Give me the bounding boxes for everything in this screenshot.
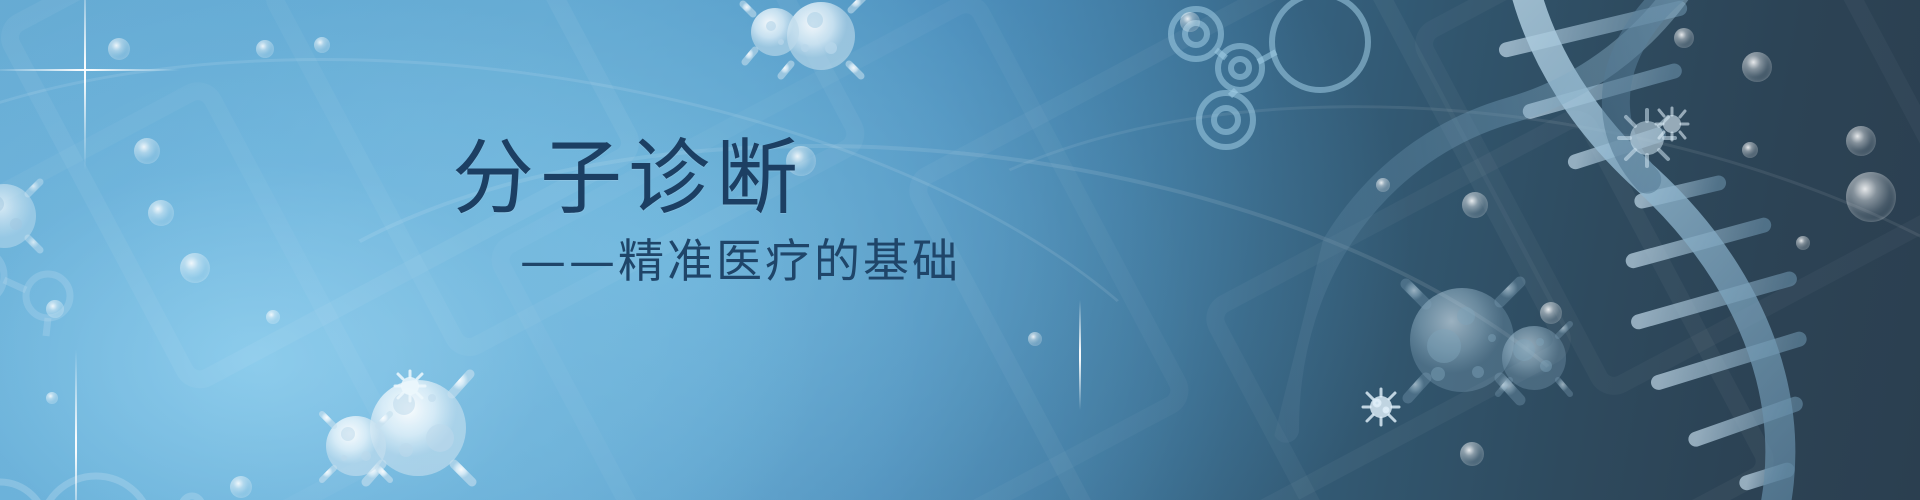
bubble-icon — [1846, 172, 1896, 222]
sparkle-icon — [0, 0, 180, 170]
bubble-icon — [1460, 442, 1484, 466]
bubble-icon — [256, 40, 274, 58]
virus-icon — [1360, 386, 1402, 428]
bubble-icon — [1742, 52, 1772, 82]
sparkle-icon — [1040, 300, 1120, 410]
bubble-icon — [1462, 192, 1488, 218]
bubble-icon — [148, 200, 174, 226]
bubble-icon — [1540, 302, 1562, 324]
bubble-icon — [46, 300, 64, 318]
bubble-icon — [1796, 236, 1810, 250]
virus-icon — [1652, 104, 1692, 144]
bubble-icon — [1180, 12, 1200, 32]
bubble-icon — [1674, 28, 1694, 48]
virus-cluster-icon — [1380, 238, 1590, 428]
virus-cluster-icon — [0, 160, 80, 270]
virus-icon — [392, 368, 428, 404]
bubble-icon — [180, 253, 210, 283]
bubble-icon — [266, 310, 280, 324]
virus-cluster-icon — [735, 0, 875, 99]
sparkle-icon — [46, 350, 106, 500]
molecule-structure-icon — [1130, 0, 1390, 150]
bubble-icon — [1742, 142, 1758, 158]
virus-cluster-icon — [300, 330, 500, 500]
bubble-icon — [230, 476, 252, 498]
bubble-icon — [1376, 178, 1390, 192]
molecular-diagnostics-banner: 分子诊断 ——精准医疗的基础 — [0, 0, 1920, 500]
bubble-icon — [1846, 126, 1876, 156]
bubble-icon — [314, 37, 330, 53]
bubble-icon — [786, 146, 816, 176]
